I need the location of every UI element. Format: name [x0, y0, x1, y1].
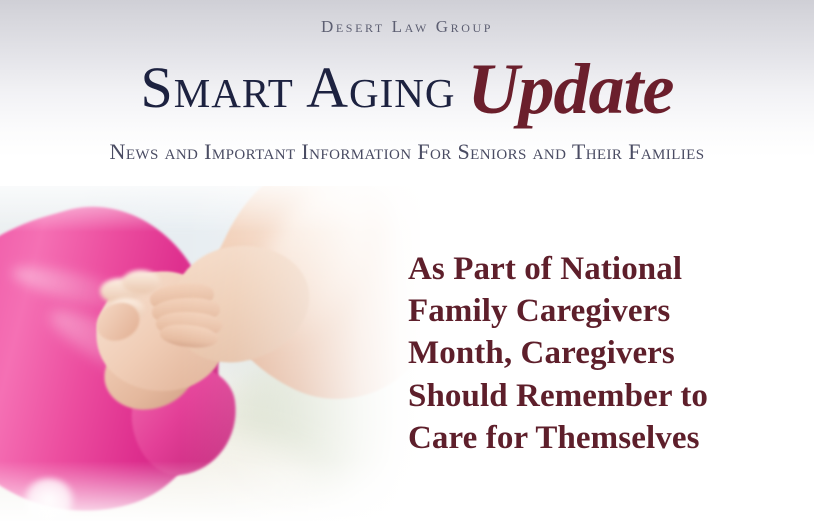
hero-section: As Part of National Family Caregivers Mo… — [0, 186, 814, 521]
article-headline: As Part of National Family Caregivers Mo… — [408, 248, 788, 459]
headline-line: Should Remember to — [408, 375, 788, 417]
photo-bokeh-highlight — [22, 478, 76, 521]
title-accent: Update — [467, 49, 673, 129]
gold-divider-rule — [0, 179, 814, 186]
organization-name: Desert Law Group — [0, 17, 814, 37]
headline-line: Care for Themselves — [408, 417, 788, 459]
headline-line: Family Caregivers — [408, 290, 788, 332]
title-primary: Smart Aging — [141, 55, 456, 120]
caregiver-photo — [0, 186, 420, 521]
publication-tagline: News and Important Information For Senio… — [0, 139, 814, 165]
headline-line: Month, Caregivers — [408, 332, 788, 374]
headline-line: As Part of National — [408, 248, 788, 290]
publication-title: Smart AgingUpdate — [0, 47, 814, 119]
newsletter-header: Desert Law Group Smart AgingUpdate News … — [0, 0, 814, 521]
masthead: Desert Law Group Smart AgingUpdate News … — [0, 0, 814, 179]
senior-hand-knuckle — [122, 270, 160, 294]
